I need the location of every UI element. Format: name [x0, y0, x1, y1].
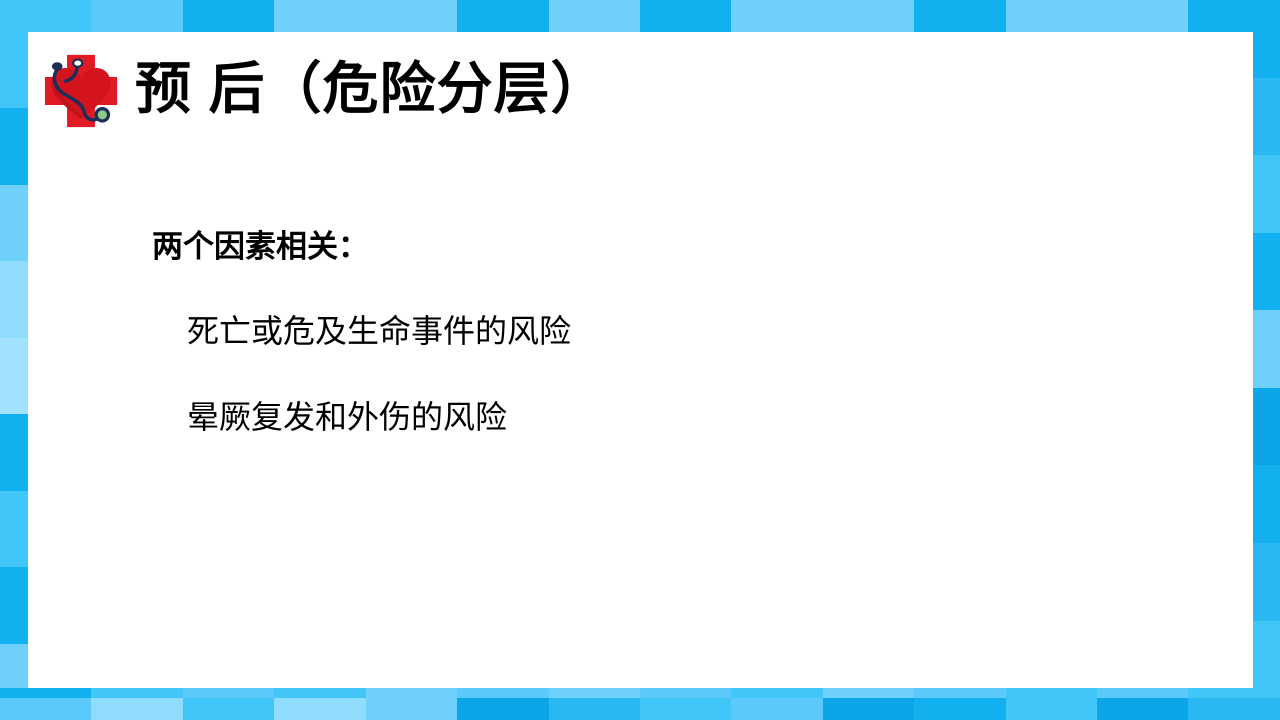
decor-tile: [823, 0, 914, 32]
decor-tile: [1253, 0, 1280, 78]
decor-tile: [0, 414, 28, 490]
body-list-item-2: 晕厥复发和外伤的风险: [187, 398, 507, 436]
decor-tile: [640, 698, 731, 720]
decor-tile: [1253, 78, 1280, 156]
decor-tile: [914, 688, 1005, 698]
decor-tile: [183, 0, 274, 32]
slide-canvas: 预 后（危险分层） 两个因素相关： 死亡或危及生命事件的风险 晕厥复发和外伤的风…: [0, 0, 1280, 720]
decor-tile: [457, 0, 548, 32]
slide-header: 预 后（危险分层）: [28, 42, 1253, 152]
decor-tile: [914, 698, 1005, 720]
decor-tile: [0, 108, 28, 184]
decor-tile: [91, 698, 182, 720]
decor-tile: [1188, 688, 1279, 698]
decor-tile: [457, 698, 548, 720]
decor-tile: [274, 698, 365, 720]
decor-tile: [366, 688, 457, 698]
decor-band-bottom-thin: [0, 688, 1280, 698]
decor-tile: [1253, 233, 1280, 311]
decor-tile: [366, 0, 457, 32]
decor-tile: [1253, 465, 1280, 543]
decor-tile: [0, 688, 91, 698]
decor-tile: [274, 688, 365, 698]
decor-tile: [731, 698, 822, 720]
decor-tile: [1097, 698, 1188, 720]
decor-tile: [1253, 621, 1280, 699]
decor-tile: [0, 32, 28, 108]
decor-tile: [0, 185, 28, 261]
decor-tile: [366, 698, 457, 720]
medical-cross-heart-stethoscope-icon: [40, 50, 122, 132]
decor-tile: [91, 0, 182, 32]
decor-tile: [640, 688, 731, 698]
decor-tile: [1097, 688, 1188, 698]
decor-tile: [0, 261, 28, 337]
decor-tile: [640, 0, 731, 32]
body-lead-text: 两个因素相关：: [152, 228, 369, 265]
decor-tile: [823, 698, 914, 720]
decor-tile: [549, 698, 640, 720]
decor-tile: [457, 688, 548, 698]
decor-tile: [183, 698, 274, 720]
decor-band-bottom: [0, 698, 1280, 720]
decor-tile: [823, 688, 914, 698]
decor-tile: [1253, 155, 1280, 233]
decor-tile: [731, 0, 822, 32]
decor-tile: [1006, 0, 1097, 32]
decor-tile: [0, 0, 91, 32]
decor-tile: [0, 698, 91, 720]
decor-band-right: [1253, 0, 1280, 698]
decor-tile: [914, 0, 1005, 32]
decor-band-left: [0, 32, 28, 720]
decor-tile: [731, 688, 822, 698]
decor-tile: [1253, 310, 1280, 388]
decor-tile: [549, 0, 640, 32]
decor-tile: [91, 688, 182, 698]
body-list-item-1: 死亡或危及生命事件的风险: [187, 312, 571, 350]
decor-tile: [0, 338, 28, 414]
decor-tile: [1188, 698, 1279, 720]
decor-tile: [1097, 0, 1188, 32]
decor-tile: [0, 491, 28, 567]
decor-tile: [0, 567, 28, 643]
decor-band-top: [0, 0, 1280, 32]
decor-tile: [1006, 698, 1097, 720]
decor-tile: [183, 688, 274, 698]
decor-tile: [549, 688, 640, 698]
decor-tile: [274, 0, 365, 32]
page-title: 预 后（危险分层）: [135, 54, 608, 124]
decor-tile: [1253, 543, 1280, 621]
decor-tile: [1006, 688, 1097, 698]
slide-content-card: 预 后（危险分层） 两个因素相关： 死亡或危及生命事件的风险 晕厥复发和外伤的风…: [28, 32, 1253, 688]
decor-tile: [1253, 388, 1280, 466]
